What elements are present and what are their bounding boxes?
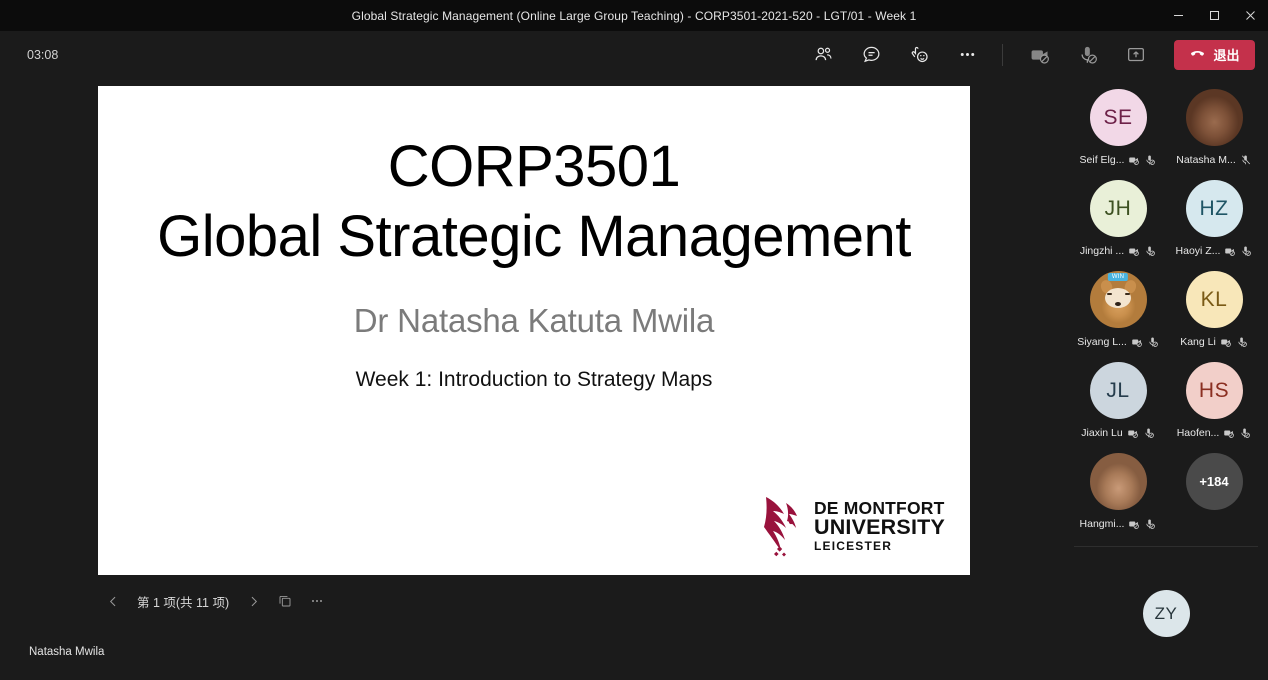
dmu-logo-line3: LEICESTER bbox=[814, 540, 945, 552]
self-avatar: ZY bbox=[1143, 590, 1190, 637]
participants-roster: SE Seif Elg... bbox=[1064, 78, 1268, 680]
participant-name: Kang Li bbox=[1180, 336, 1216, 348]
slide-counter: 第 1 项(共 11 项) bbox=[130, 592, 236, 611]
window-controls bbox=[1160, 0, 1268, 31]
avatar: JH bbox=[1090, 180, 1147, 237]
toolbar-divider bbox=[1002, 44, 1003, 66]
mic-off-icon bbox=[1144, 245, 1156, 257]
leave-button-label: 退出 bbox=[1213, 45, 1239, 64]
camera-off-icon bbox=[1128, 245, 1140, 257]
camera-off-icon[interactable] bbox=[1021, 38, 1059, 72]
mic-off-icon bbox=[1144, 518, 1156, 530]
minimize-button[interactable] bbox=[1160, 0, 1196, 31]
participant-name: Hangmi... bbox=[1080, 518, 1125, 530]
participant-name: Natasha M... bbox=[1176, 154, 1236, 166]
avatar-initials: JL bbox=[1106, 379, 1129, 403]
avatar-initials: JH bbox=[1105, 197, 1132, 221]
participant-name: Siyang L... bbox=[1077, 336, 1127, 348]
title-bar: Global Strategic Management (Online Larg… bbox=[0, 0, 1268, 31]
avatar: SE bbox=[1090, 89, 1147, 146]
avatar-initials: HS bbox=[1199, 379, 1229, 403]
camera-off-icon bbox=[1127, 427, 1139, 439]
hangup-icon bbox=[1189, 45, 1206, 65]
presentation-slide[interactable]: CORP3501 Global Strategic Management Dr … bbox=[98, 86, 970, 575]
participant-name: Jiaxin Lu bbox=[1081, 427, 1122, 439]
participant-tile[interactable]: JL Jiaxin Lu bbox=[1070, 362, 1166, 439]
slide-navigation: 第 1 项(共 11 项) bbox=[98, 586, 332, 616]
slide-title-line1: CORP3501 bbox=[98, 132, 970, 202]
camera-off-icon bbox=[1128, 154, 1140, 166]
mic-off-icon bbox=[1239, 427, 1251, 439]
avatar: WIN bbox=[1090, 271, 1147, 328]
previous-slide-button[interactable] bbox=[98, 586, 128, 616]
participant-tile[interactable]: WIN Siyang L... bbox=[1070, 271, 1166, 348]
mic-off-icon bbox=[1147, 336, 1159, 348]
more-options-icon[interactable] bbox=[948, 38, 986, 72]
doge-eye-right bbox=[1125, 293, 1130, 295]
share-screen-icon[interactable] bbox=[1117, 38, 1155, 72]
doge-cap-label: WIN bbox=[1108, 273, 1128, 281]
mic-off-icon bbox=[1236, 336, 1248, 348]
avatar-initials: KL bbox=[1201, 288, 1228, 312]
dmu-logo-line2: UNIVERSITY bbox=[814, 517, 945, 539]
next-slide-button[interactable] bbox=[238, 586, 268, 616]
participants-overflow-tile[interactable]: +184 bbox=[1166, 453, 1262, 530]
chat-icon[interactable] bbox=[852, 38, 890, 72]
avatar: HZ bbox=[1186, 180, 1243, 237]
participants-grid: SE Seif Elg... bbox=[1064, 89, 1268, 530]
participant-tile[interactable]: JH Jingzhi ... bbox=[1070, 180, 1166, 257]
avatar: KL bbox=[1186, 271, 1243, 328]
avatar: HS bbox=[1186, 362, 1243, 419]
avatar bbox=[1090, 453, 1147, 510]
maximize-button[interactable] bbox=[1196, 0, 1232, 31]
mic-off-icon bbox=[1240, 154, 1252, 166]
camera-off-icon bbox=[1128, 518, 1140, 530]
fit-to-frame-icon[interactable] bbox=[270, 586, 300, 616]
participant-tile[interactable]: Natasha M... bbox=[1166, 89, 1262, 166]
camera-off-icon bbox=[1131, 336, 1143, 348]
slide-author: Dr Natasha Katuta Mwila bbox=[98, 302, 970, 340]
camera-off-icon bbox=[1223, 427, 1235, 439]
mic-off-icon bbox=[1144, 154, 1156, 166]
meeting-action-bar: 03:08 bbox=[0, 31, 1268, 78]
shared-content-stage: CORP3501 Global Strategic Management Dr … bbox=[0, 78, 1064, 680]
participant-name: Jingzhi ... bbox=[1080, 245, 1124, 257]
presenter-name-label: Natasha Mwila bbox=[29, 646, 104, 658]
self-video-tile[interactable]: ZY bbox=[1064, 547, 1268, 680]
participants-icon[interactable] bbox=[804, 38, 842, 72]
avatar bbox=[1186, 89, 1243, 146]
meeting-body: CORP3501 Global Strategic Management Dr … bbox=[0, 78, 1268, 680]
doge-nose bbox=[1115, 302, 1121, 306]
window-title: Global Strategic Management (Online Larg… bbox=[0, 9, 1268, 23]
dmu-lion-icon bbox=[760, 493, 804, 559]
slide-title-line2: Global Strategic Management bbox=[98, 202, 970, 272]
close-button[interactable] bbox=[1232, 0, 1268, 31]
dmu-logo: DE MONTFORT UNIVERSITY LEICESTER bbox=[760, 493, 945, 559]
doge-eye-left bbox=[1107, 293, 1112, 295]
participant-tile[interactable]: Hangmi... bbox=[1070, 453, 1166, 530]
leave-button[interactable]: 退出 bbox=[1174, 40, 1255, 70]
mic-off-icon bbox=[1143, 427, 1155, 439]
participant-tile[interactable]: KL Kang Li bbox=[1166, 271, 1262, 348]
avatar-initials: HZ bbox=[1200, 197, 1229, 221]
meeting-timer: 03:08 bbox=[27, 48, 58, 62]
participant-tile[interactable]: HZ Haoyi Z... bbox=[1166, 180, 1262, 257]
camera-off-icon bbox=[1220, 336, 1232, 348]
slide-more-options-icon[interactable] bbox=[302, 586, 332, 616]
dmu-logo-text: DE MONTFORT UNIVERSITY LEICESTER bbox=[814, 500, 945, 553]
teams-meeting-window: Global Strategic Management (Online Larg… bbox=[0, 0, 1268, 680]
meeting-controls: 退出 bbox=[799, 38, 1255, 72]
slide-subtitle: Week 1: Introduction to Strategy Maps bbox=[98, 368, 970, 392]
avatar: JL bbox=[1090, 362, 1147, 419]
slide-title: CORP3501 Global Strategic Management bbox=[98, 132, 970, 272]
overflow-count-badge: +184 bbox=[1186, 453, 1243, 510]
participant-name: Haofen... bbox=[1177, 427, 1220, 439]
mic-off-icon[interactable] bbox=[1069, 38, 1107, 72]
reactions-icon[interactable] bbox=[900, 38, 938, 72]
participant-name: Seif Elg... bbox=[1080, 154, 1125, 166]
participant-tile[interactable]: SE Seif Elg... bbox=[1070, 89, 1166, 166]
participant-tile[interactable]: HS Haofen... bbox=[1166, 362, 1262, 439]
camera-off-icon bbox=[1224, 245, 1236, 257]
mic-off-icon bbox=[1240, 245, 1252, 257]
avatar-initials: SE bbox=[1103, 106, 1132, 130]
participant-name: Haoyi Z... bbox=[1176, 245, 1221, 257]
